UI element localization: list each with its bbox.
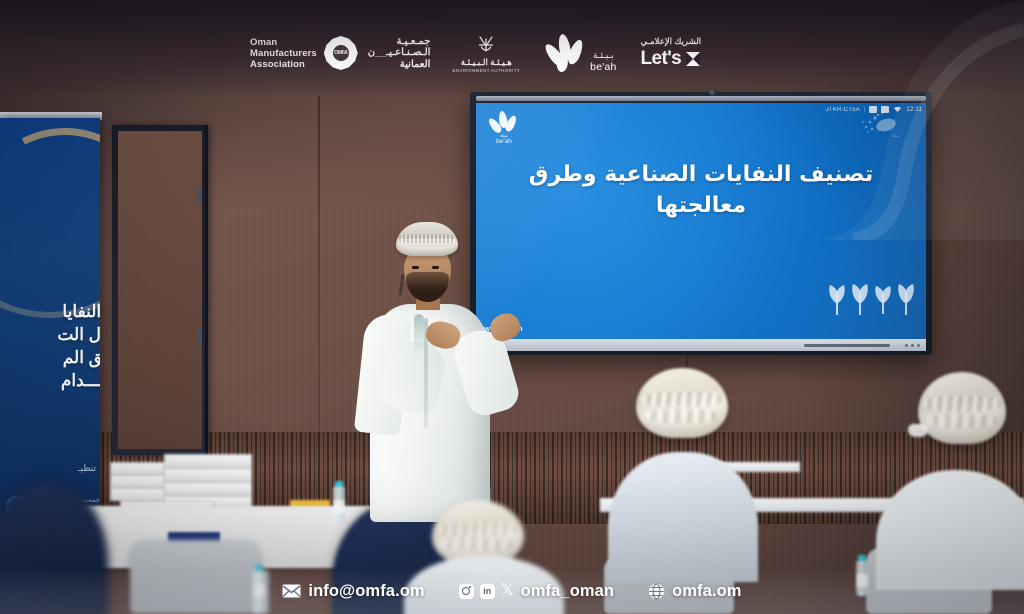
- contact-footer: info@omfa.om in 𝕏 omfa_oman: [0, 568, 1024, 614]
- banner-headline-line: إدارة النفايا: [0, 300, 100, 323]
- footer-website[interactable]: omfa.om: [648, 582, 741, 601]
- omfa-ar-line: الـصـنـاعـيـ__ن: [368, 47, 431, 59]
- presenter: [352, 222, 562, 522]
- beah-leaf-icon: [546, 32, 586, 74]
- beah-arabic-name: بـيـئـة: [593, 50, 614, 61]
- sponsor-logo-bar: Oman Manufacturers Association OMFA جمـع…: [250, 22, 720, 84]
- door-panel: [118, 131, 202, 449]
- banner-organizer-label: تنظيـ: [78, 463, 96, 474]
- banner-headline-line: الامتثال الت: [0, 323, 100, 346]
- door-hinge: [197, 330, 202, 346]
- face-mask: [908, 424, 928, 437]
- media-partner-label: الشريك الإعلامـي: [641, 36, 702, 47]
- beah-names: بـيـئـة be'ah: [590, 50, 616, 73]
- slide-watermark-graphic: بيئة: [852, 109, 914, 145]
- x-icon[interactable]: 𝕏: [501, 583, 514, 599]
- omfa-arabic-name: جمـعـيـة الـصـنـاعـيـ__ن العمانية: [368, 36, 431, 71]
- omfa-en-line: Manufacturers: [250, 48, 317, 59]
- environment-authority-logo: هـيـئـة الـبـيـئـة ENVIRONMENT AUTHORITY: [452, 34, 520, 73]
- presenter-kuma-cap: [396, 222, 458, 256]
- slide-title-line-2: معالجتها: [506, 190, 896, 221]
- slide-title: تصنيف النفايات الصناعية وطرق معالجتها: [506, 159, 896, 221]
- photograph-scene: إدارة النفايا الامتثال الت وتطبيق الم ال…: [0, 0, 1024, 614]
- presenter-tassel: [414, 314, 424, 354]
- banner-headline-line: المستـــدام: [0, 369, 100, 392]
- omfa-en-line: Association: [250, 59, 317, 70]
- social-icon-group: in 𝕏: [459, 583, 514, 599]
- slide-beah-english: be'ah: [490, 138, 518, 145]
- footer-email-text: info@omfa.om: [308, 582, 424, 601]
- lets-diamond-icon: [685, 51, 701, 67]
- material-box-stack: [110, 460, 270, 510]
- water-bottle: [333, 486, 345, 522]
- oman-khanjar-emblem-icon: [475, 34, 497, 56]
- omfa-ar-line: جمـعـيـة: [368, 36, 431, 48]
- wall-seam: [318, 96, 320, 434]
- banner-headline-line: وتطبيق الم: [0, 346, 100, 369]
- footer-social[interactable]: in 𝕏 omfa_oman: [459, 582, 614, 601]
- presenter-eye: [432, 266, 439, 269]
- slide-beah-logo: بيئة be'ah: [490, 111, 518, 145]
- svg-text:بيئة: بيئة: [892, 133, 899, 139]
- display-indicator-dot: [917, 344, 920, 347]
- omfa-flower-icon: OMFA: [324, 36, 358, 70]
- instagram-icon[interactable]: [459, 584, 474, 599]
- linkedin-icon[interactable]: in: [480, 584, 495, 599]
- door-hinge: [197, 188, 202, 204]
- beah-logo: بـيـئـة be'ah: [546, 32, 616, 74]
- globe-icon: [648, 583, 665, 600]
- omfa-ar-line: العمانية: [368, 59, 431, 71]
- footer-email[interactable]: info@omfa.om: [282, 582, 424, 601]
- presenter-headset-mic: [398, 274, 404, 296]
- banner-headline: إدارة النفايا الامتثال الت وتطبيق الم ال…: [0, 300, 100, 392]
- omfa-mark-label: OMFA: [334, 50, 347, 56]
- footer-website-text: omfa.om: [672, 582, 741, 601]
- event-rollup-banner: إدارة النفايا الامتثال الت وتطبيق الم ال…: [0, 118, 100, 518]
- slide-title-line-1: تصنيف النفايات الصناعية وطرق: [506, 159, 896, 190]
- display-indicator-dot: [905, 344, 908, 347]
- mail-icon: [282, 584, 301, 598]
- presenter-beard: [406, 272, 449, 302]
- display-top-strip: [476, 96, 926, 101]
- ea-english-name: ENVIRONMENT AUTHORITY: [452, 68, 520, 73]
- beah-english-name: be'ah: [590, 61, 616, 73]
- footer-social-handle: omfa_oman: [521, 582, 615, 601]
- display-touch-strip[interactable]: [804, 344, 890, 347]
- slide-beah-leaf-icon: [490, 111, 518, 135]
- display-indicator-dot: [911, 344, 914, 347]
- omfa-en-line: Oman: [250, 37, 317, 48]
- omfa-logo: Oman Manufacturers Association OMFA جمـع…: [250, 36, 430, 71]
- presenter-eye: [412, 266, 419, 269]
- lets-wordmark: Let's: [641, 48, 682, 70]
- ea-arabic-name: هـيـئـة الـبـيـئـة: [461, 57, 512, 68]
- omfa-english-name: Oman Manufacturers Association: [250, 37, 317, 70]
- lets-media-partner-logo: الشريك الإعلامـي Let's: [641, 36, 702, 70]
- leaf-pattern-icon: [824, 281, 920, 321]
